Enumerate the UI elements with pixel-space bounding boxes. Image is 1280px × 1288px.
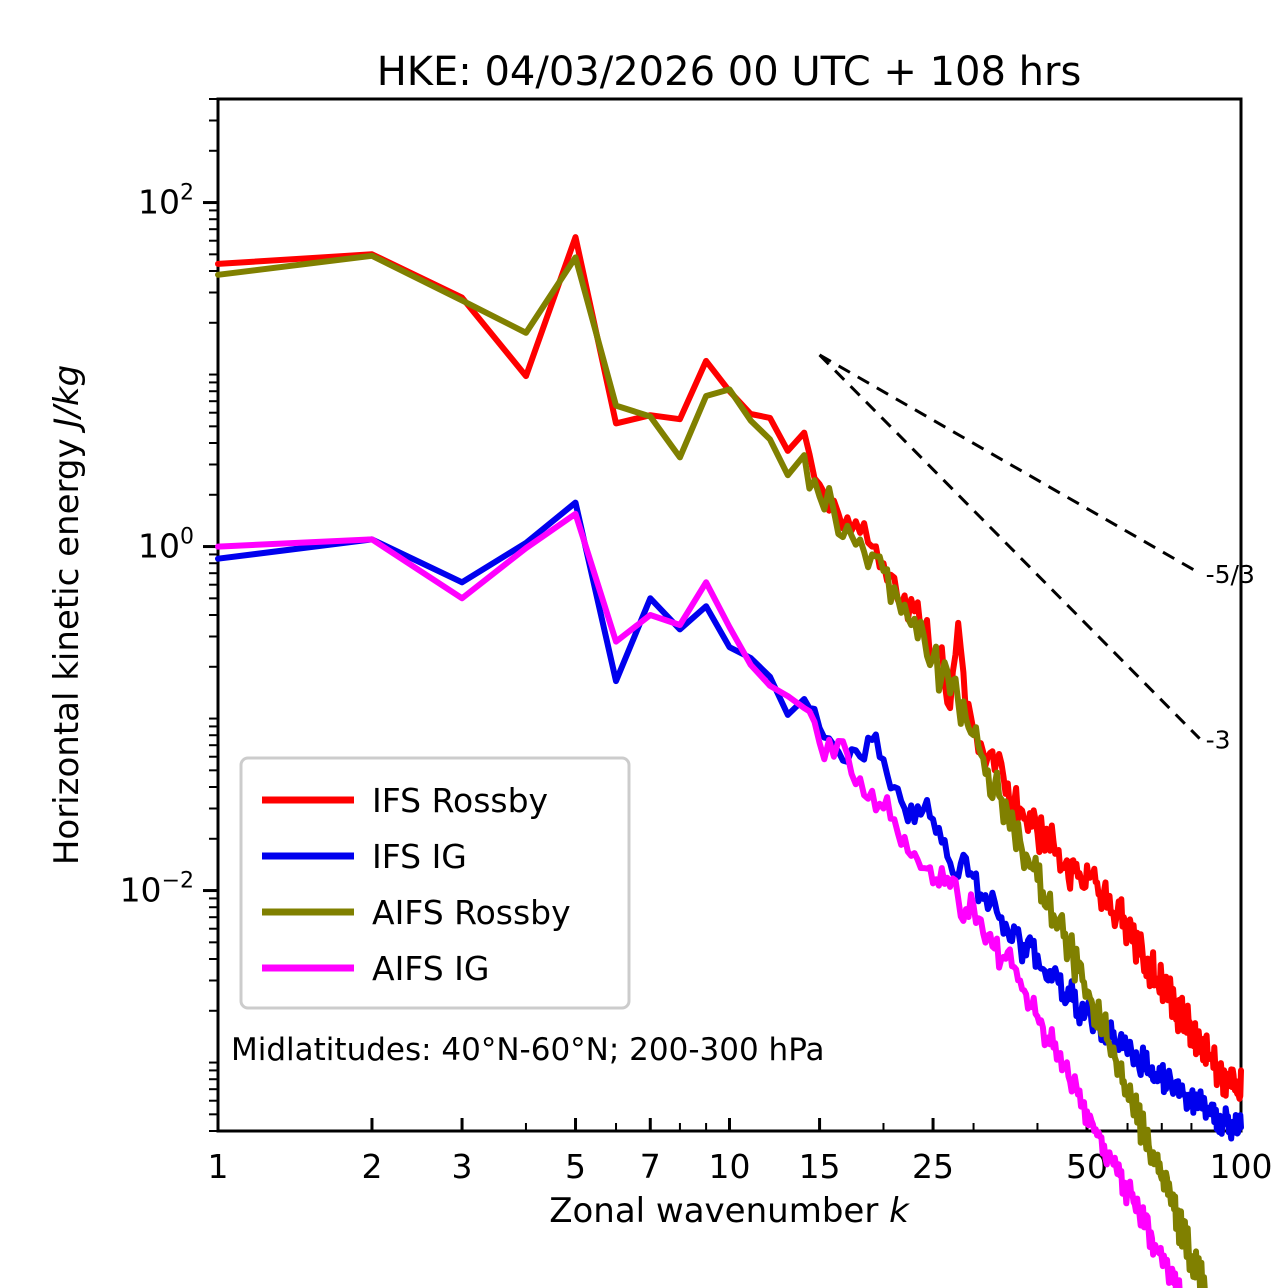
x-tick-label: 1	[208, 1147, 229, 1186]
x-tick-label: 25	[912, 1147, 954, 1186]
chart-legend: IFS RossbyIFS IGAIFS RossbyAIFS IG	[241, 758, 629, 1008]
figure-container: HKE: 04/03/2026 00 UTC + 108 hrs 1235710…	[0, 0, 1280, 1288]
y-tick-label: 10−2	[120, 869, 194, 910]
legend-label: IFS Rossby	[372, 781, 548, 820]
x-tick-label: 15	[799, 1147, 841, 1186]
x-axis-label-italic: k	[889, 1191, 910, 1231]
legend-label: AIFS IG	[372, 949, 489, 988]
reference-slope-line	[820, 355, 1200, 573]
x-tick-label: 3	[452, 1147, 473, 1186]
y-axis-label: Horizontal kinetic energy J/kg	[47, 365, 87, 865]
x-axis-label-plain: Zonal wavenumber	[549, 1191, 889, 1231]
x-tick-label: 7	[640, 1147, 661, 1186]
x-axis-label: Zonal wavenumber k	[549, 1191, 910, 1231]
y-axis-ticks: 10210010−2	[120, 99, 218, 1131]
region-annotation: Midlatitudes: 40°N-60°N; 200-300 hPa	[231, 1032, 825, 1068]
x-tick-label: 100	[1210, 1147, 1273, 1186]
y-tick-label: 102	[138, 181, 194, 222]
reference-slope-lines: -5/3-3	[820, 355, 1255, 755]
x-tick-label: 10	[709, 1147, 751, 1186]
x-axis-ticks: 1235710152550100	[208, 1118, 1273, 1186]
y-axis-label-plain: Horizontal kinetic energy	[47, 428, 87, 866]
spectral-energy-chart: HKE: 04/03/2026 00 UTC + 108 hrs 1235710…	[0, 0, 1280, 1288]
legend-label: AIFS Rossby	[372, 893, 571, 932]
y-axis-label-italic: J/kg	[47, 365, 87, 434]
chart-title: HKE: 04/03/2026 00 UTC + 108 hrs	[377, 49, 1082, 95]
reference-slope-label: -3	[1206, 726, 1231, 755]
x-tick-label: 2	[361, 1147, 382, 1186]
y-tick-label: 100	[138, 525, 194, 566]
x-tick-label: 5	[565, 1147, 586, 1186]
legend-label: IFS IG	[372, 837, 467, 876]
reference-slope-label: -5/3	[1206, 560, 1255, 589]
